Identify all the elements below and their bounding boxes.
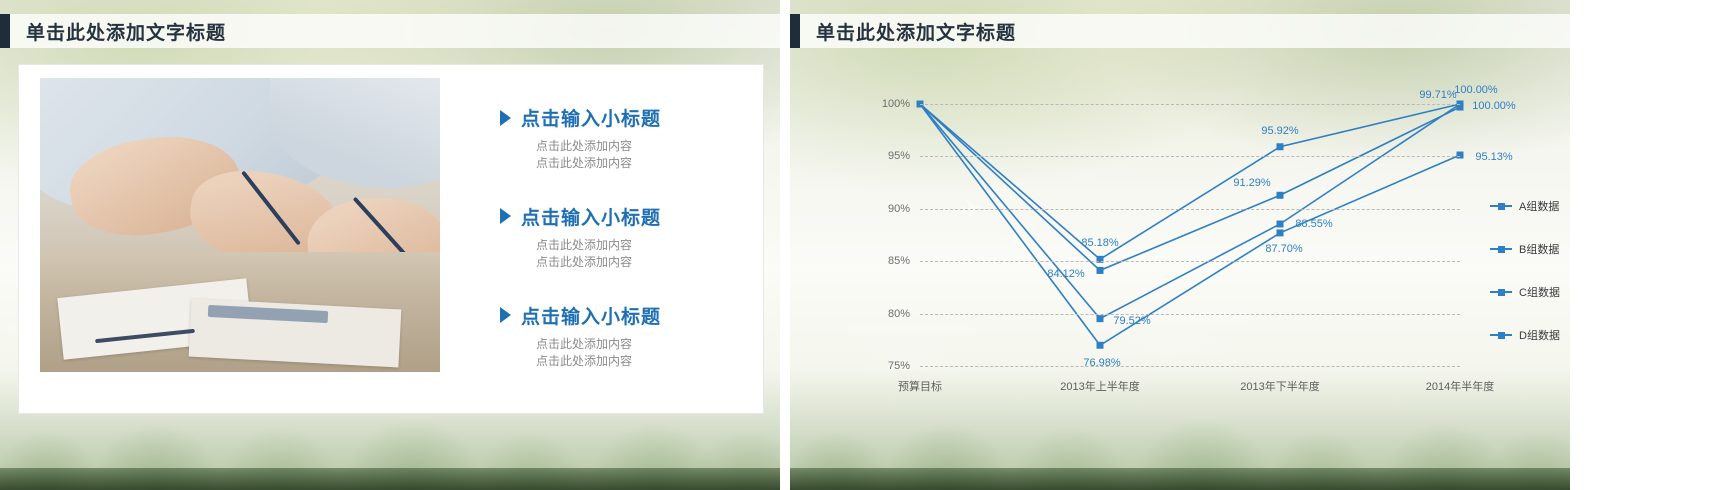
- page-title-left: 单击此处添加文字标题: [26, 18, 226, 45]
- bullet-line: 点击此处添加内容: [536, 138, 750, 155]
- legend-swatch: [1490, 334, 1512, 336]
- slide-right: ✈ ✈ ✈ 单击此处添加文字标题 75%80%85%90%95%100%预算目标…: [790, 0, 1570, 490]
- bullet-line: 点击此处添加内容: [536, 353, 750, 370]
- legend-item[interactable]: C组数据: [1490, 284, 1570, 300]
- chart-gridline: [920, 366, 1460, 367]
- legend-item[interactable]: D组数据: [1490, 327, 1570, 343]
- chart-data-label: 84.12%: [1047, 268, 1084, 280]
- bullet-head-3: 点击输入小标题: [500, 302, 750, 329]
- bullet-title-3: 点击输入小标题: [521, 302, 661, 329]
- chevron-right-icon: [500, 307, 511, 323]
- chart-gridline: [920, 156, 1460, 157]
- chart-marker: [1097, 342, 1104, 349]
- chart-y-tick: 75%: [888, 360, 910, 372]
- chart-data-label: 79.52%: [1113, 315, 1150, 327]
- chart-x-tick: 2013年下半年度: [1240, 378, 1319, 394]
- chart-data-label: 100.00%: [1454, 84, 1497, 96]
- chart-line-B组数据: [920, 104, 1460, 259]
- chevron-right-icon: [500, 110, 511, 126]
- chart-data-label: 95.13%: [1475, 151, 1512, 163]
- bullet-body-1: 点击此处添加内容 点击此处添加内容: [536, 138, 750, 173]
- bullet-body-3: 点击此处添加内容 点击此处添加内容: [536, 336, 750, 371]
- bullet-head-1: 点击输入小标题: [500, 104, 750, 131]
- bullet-title-1: 点击输入小标题: [521, 104, 661, 131]
- bullet-line: 点击此处添加内容: [536, 237, 750, 254]
- chart-gridline: [920, 104, 1460, 105]
- chart-marker: [1277, 192, 1284, 199]
- bullet-line: 点击此处添加内容: [536, 155, 750, 172]
- line-chart: 75%80%85%90%95%100%预算目标2013年上半年度2013年下半年…: [830, 86, 1530, 406]
- legend-marker: [1498, 246, 1505, 253]
- chart-data-label: 95.92%: [1261, 125, 1298, 137]
- chevron-right-icon: [500, 208, 511, 224]
- chart-marker: [1277, 220, 1284, 227]
- legend-marker: [1498, 332, 1505, 339]
- chart-series-lines: [920, 104, 1460, 366]
- chart-marker: [1097, 315, 1104, 322]
- background-bottom-bar: [0, 468, 780, 490]
- chart-x-tick: 2013年上半年度: [1060, 378, 1139, 394]
- chart-x-tick: 预算目标: [898, 378, 942, 394]
- legend-item[interactable]: B组数据: [1490, 241, 1570, 257]
- legend-label: D组数据: [1519, 327, 1560, 343]
- bullet-line: 点击此处添加内容: [536, 254, 750, 271]
- slide-left: 单击此处添加文字标题 点击输入小标题: [0, 0, 780, 490]
- chart-x-tick: 2014年半年度: [1426, 378, 1494, 394]
- chart-marker: [1277, 143, 1284, 150]
- chart-gridline: [920, 209, 1460, 210]
- chart-y-tick: 100%: [882, 98, 910, 110]
- bullet-list: 点击输入小标题 点击此处添加内容 点击此处添加内容 点击输入小标题 点击此处添加…: [500, 104, 750, 400]
- chart-marker: [1277, 229, 1284, 236]
- chart-data-label: 85.18%: [1081, 237, 1118, 249]
- legend-label: C组数据: [1519, 284, 1560, 300]
- page-title-right: 单击此处添加文字标题: [816, 18, 1016, 45]
- legend-marker: [1498, 203, 1505, 210]
- chart-data-label: 99.71%: [1419, 89, 1456, 101]
- legend-label: B组数据: [1519, 241, 1559, 257]
- legend-swatch: [1490, 291, 1512, 293]
- chart-data-label: 91.29%: [1233, 177, 1270, 189]
- slide-title-bar-right: 单击此处添加文字标题: [790, 14, 1570, 48]
- bullet-item-3: 点击输入小标题 点击此处添加内容 点击此处添加内容: [500, 302, 750, 371]
- chart-line-D组数据: [920, 104, 1460, 345]
- title-accent-bar: [790, 14, 800, 48]
- chart-gridline: [920, 261, 1460, 262]
- bullet-head-2: 点击输入小标题: [500, 203, 750, 230]
- legend-item[interactable]: A组数据: [1490, 198, 1570, 214]
- slide-title-bar-left: 单击此处添加文字标题: [0, 14, 780, 48]
- legend-swatch: [1490, 205, 1512, 207]
- chart-y-tick: 85%: [888, 255, 910, 267]
- title-accent-bar: [0, 14, 10, 48]
- bullet-body-2: 点击此处添加内容 点击此处添加内容: [536, 237, 750, 272]
- bullet-title-2: 点击输入小标题: [521, 203, 661, 230]
- chart-legend: A组数据B组数据C组数据D组数据: [1490, 198, 1570, 370]
- chart-data-label: 76.98%: [1083, 357, 1120, 369]
- chart-plot-area: 75%80%85%90%95%100%预算目标2013年上半年度2013年下半年…: [920, 104, 1460, 366]
- bullet-item-1: 点击输入小标题 点击此处添加内容 点击此处添加内容: [500, 104, 750, 173]
- chart-data-label: 88.55%: [1295, 218, 1332, 230]
- chart-y-tick: 95%: [888, 150, 910, 162]
- bullet-line: 点击此处添加内容: [536, 336, 750, 353]
- bullet-item-2: 点击输入小标题 点击此处添加内容 点击此处添加内容: [500, 203, 750, 272]
- slide-pair: 单击此处添加文字标题 点击输入小标题: [0, 0, 1720, 490]
- chart-gridline: [920, 314, 1460, 315]
- chart-marker: [1097, 267, 1104, 274]
- meeting-photo: [40, 78, 440, 372]
- chart-marker: [1457, 152, 1464, 159]
- legend-swatch: [1490, 248, 1512, 250]
- background-bottom-bar: [790, 468, 1570, 490]
- legend-label: A组数据: [1519, 198, 1559, 214]
- legend-marker: [1498, 289, 1505, 296]
- chart-data-label: 100.00%: [1472, 100, 1515, 112]
- chart-y-tick: 80%: [888, 308, 910, 320]
- chart-y-tick: 90%: [888, 203, 910, 215]
- chart-data-label: 87.70%: [1265, 243, 1302, 255]
- chart-line-A组数据: [920, 104, 1460, 270]
